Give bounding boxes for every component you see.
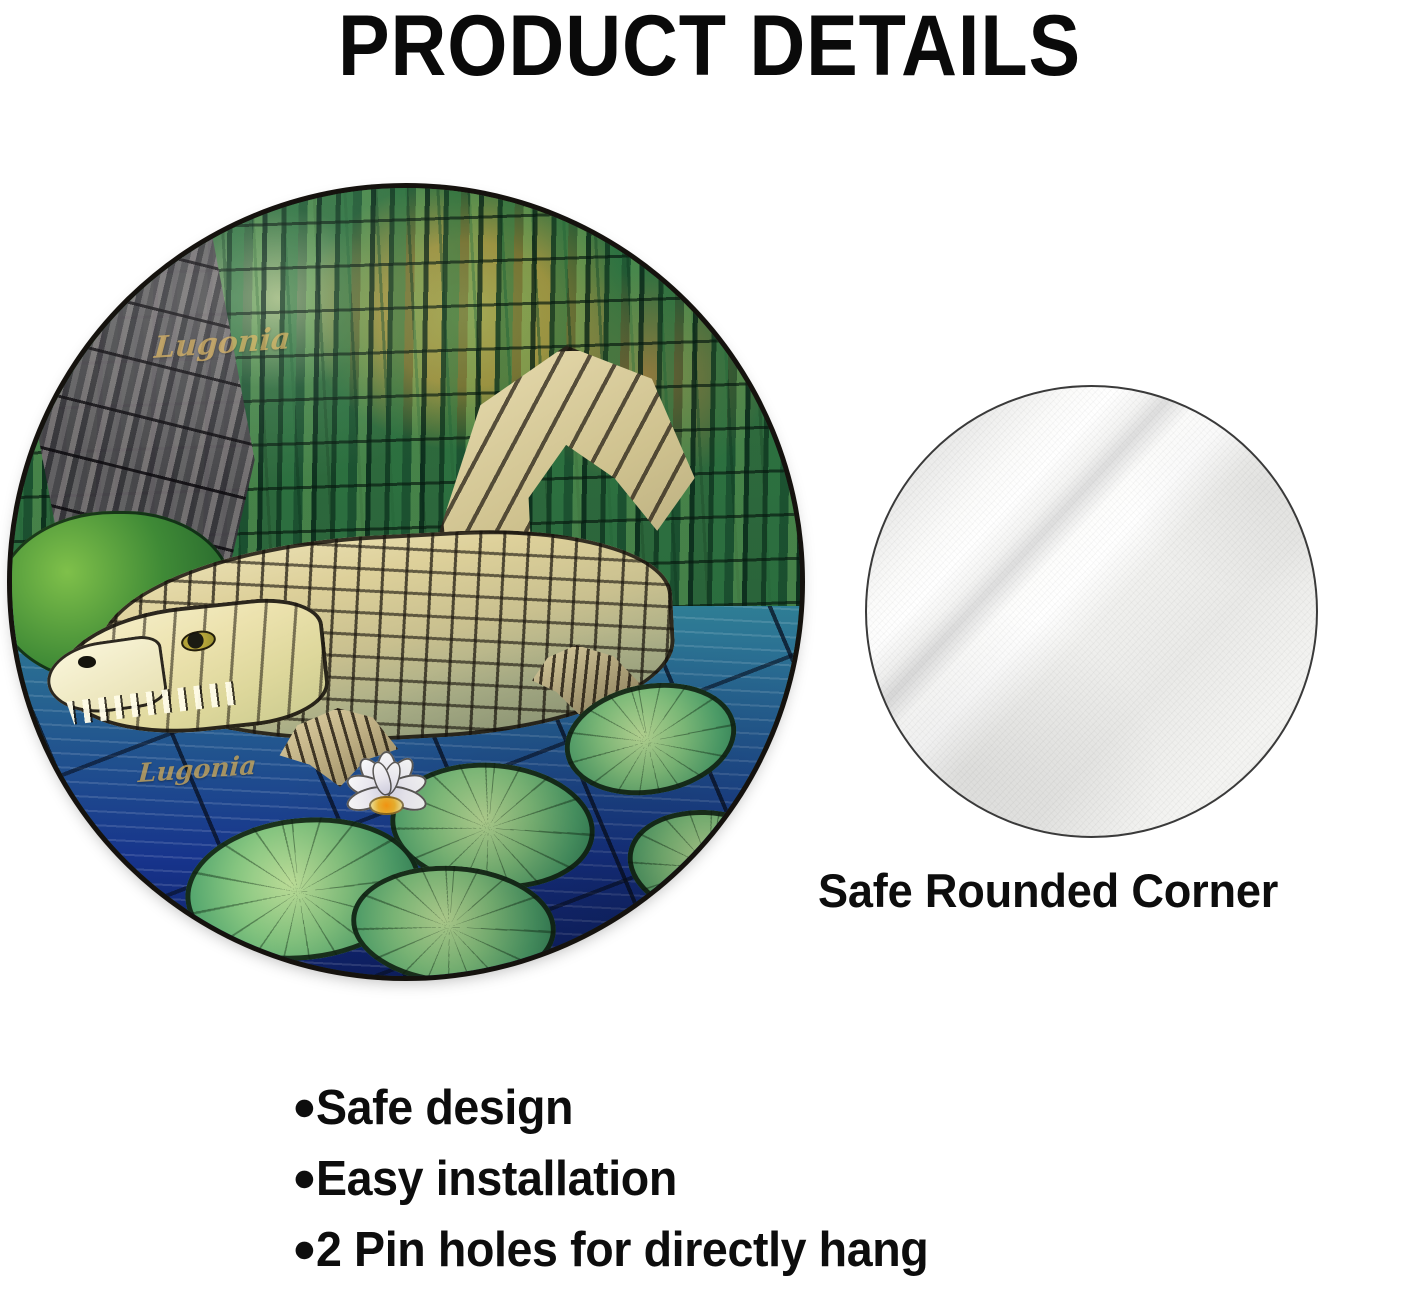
lily-flower-center <box>369 796 404 815</box>
feature-label: 2 Pin holes for directly hang <box>316 1215 928 1286</box>
feature-label: Safe design <box>316 1073 573 1144</box>
feature-item-pin-holes: ● 2 Pin holes for directly hang <box>292 1215 1292 1286</box>
water-lily-flower <box>327 755 445 850</box>
stained-glass-product-image: Lugonia Lugonia <box>12 188 800 976</box>
feature-list: ● Safe design ● Easy installation ● 2 Pi… <box>292 1073 1292 1286</box>
bullet-icon: ● <box>292 1157 316 1198</box>
feature-item-safe-design: ● Safe design <box>292 1073 1292 1144</box>
alligator-nostril <box>78 656 95 668</box>
safe-rounded-corner-caption: Safe Rounded Corner <box>818 862 1394 920</box>
bullet-icon: ● <box>292 1086 316 1127</box>
corner-surface-shading <box>867 387 1316 836</box>
feature-item-easy-installation: ● Easy installation <box>292 1144 1292 1215</box>
page-title: PRODUCT DETAILS <box>71 0 1348 94</box>
safe-rounded-corner-image <box>865 385 1318 838</box>
feature-label: Easy installation <box>316 1144 677 1215</box>
bullet-icon: ● <box>292 1228 316 1269</box>
